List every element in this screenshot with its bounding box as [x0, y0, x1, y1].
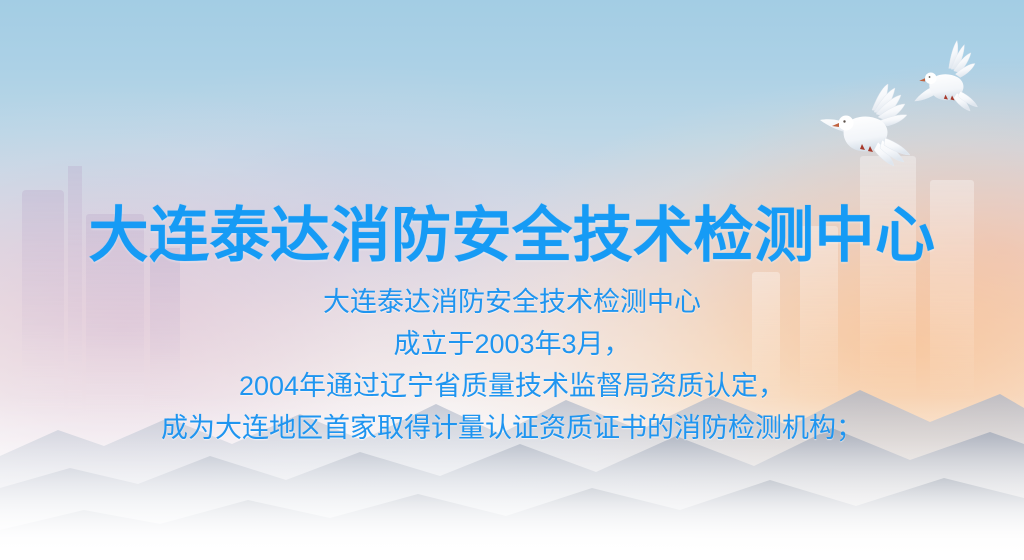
banner-text-content: 大连泰达消防安全技术检测中心 大连泰达消防安全技术检测中心 成立于2003年3月…	[0, 0, 1024, 560]
description-line-3: 2004年通过辽宁省质量技术监督局资质认定，	[0, 365, 1024, 407]
page-title: 大连泰达消防安全技术检测中心	[0, 206, 1024, 266]
banner-description: 大连泰达消防安全技术检测中心 成立于2003年3月， 2004年通过辽宁省质量技…	[0, 281, 1024, 449]
description-line-4: 成为大连地区首家取得计量认证资质证书的消防检测机构；	[0, 407, 1024, 449]
description-line-2: 成立于2003年3月，	[0, 323, 1024, 365]
description-line-1: 大连泰达消防安全技术检测中心	[0, 281, 1024, 323]
promotional-banner: 大连泰达消防安全技术检测中心 大连泰达消防安全技术检测中心 成立于2003年3月…	[0, 0, 1024, 560]
